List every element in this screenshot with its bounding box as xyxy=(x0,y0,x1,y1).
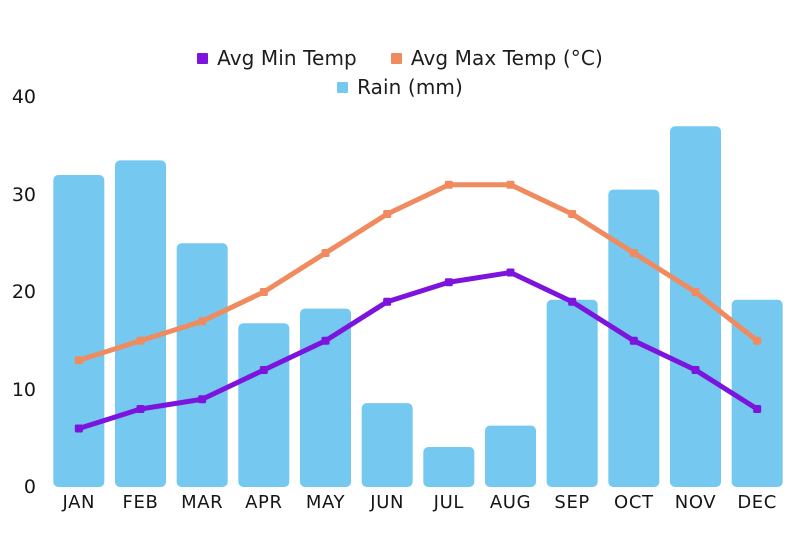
x-tick-label-jul: JUL xyxy=(434,492,464,513)
point-avg-min-temp-jan[interactable] xyxy=(75,425,83,433)
legend-row-primary: Avg Min Temp Avg Max Temp (°C) xyxy=(0,48,800,68)
point-avg-max-temp-apr[interactable] xyxy=(260,288,268,296)
bar-rain-jun[interactable] xyxy=(362,403,413,487)
point-avg-min-temp-may[interactable] xyxy=(322,337,330,345)
bar-rain-may[interactable] xyxy=(300,309,351,487)
x-tick-label-dec: DEC xyxy=(737,492,777,513)
point-avg-max-temp-jul[interactable] xyxy=(445,181,453,189)
legend-row-secondary: Rain (mm) xyxy=(0,77,800,97)
legend-label-avg-min-temp: Avg Min Temp xyxy=(217,48,357,68)
point-avg-max-temp-oct[interactable] xyxy=(630,249,638,257)
point-avg-min-temp-oct[interactable] xyxy=(630,337,638,345)
bar-rain-jan[interactable] xyxy=(53,175,104,487)
point-avg-min-temp-aug[interactable] xyxy=(507,269,515,277)
y-tick-label-40: 40 xyxy=(12,86,36,108)
x-tick-label-aug: AUG xyxy=(490,492,531,513)
y-tick-label-0: 0 xyxy=(24,476,36,498)
x-tick-label-oct: OCT xyxy=(614,492,654,513)
x-tick-label-feb: FEB xyxy=(123,492,159,513)
plot-area xyxy=(48,97,788,487)
bar-series-rain xyxy=(53,126,782,487)
square-marker-icon xyxy=(197,53,208,64)
point-avg-min-temp-jun[interactable] xyxy=(383,298,391,306)
point-avg-max-temp-dec[interactable] xyxy=(753,337,761,345)
point-avg-max-temp-feb[interactable] xyxy=(137,337,145,345)
x-tick-label-mar: MAR xyxy=(181,492,223,513)
bar-rain-feb[interactable] xyxy=(115,160,166,487)
point-avg-max-temp-nov[interactable] xyxy=(692,288,700,296)
legend-label-avg-max-temp: Avg Max Temp (°C) xyxy=(411,48,603,68)
legend-item-avg-max-temp[interactable]: Avg Max Temp (°C) xyxy=(391,48,603,68)
square-marker-icon xyxy=(337,82,348,93)
point-avg-max-temp-jan[interactable] xyxy=(75,356,83,364)
x-tick-label-may: MAY xyxy=(306,492,345,513)
bar-rain-sep[interactable] xyxy=(547,300,598,487)
point-avg-min-temp-mar[interactable] xyxy=(198,395,206,403)
point-avg-max-temp-aug[interactable] xyxy=(507,181,515,189)
chart-legend: Avg Min Temp Avg Max Temp (°C) Rain (mm) xyxy=(0,48,800,97)
legend-item-rain[interactable]: Rain (mm) xyxy=(337,77,463,97)
point-avg-min-temp-dec[interactable] xyxy=(753,405,761,413)
weather-chart: Avg Min Temp Avg Max Temp (°C) Rain (mm)… xyxy=(0,0,800,546)
point-avg-max-temp-may[interactable] xyxy=(322,249,330,257)
y-tick-label-20: 20 xyxy=(12,281,36,303)
legend-label-rain: Rain (mm) xyxy=(357,77,463,97)
square-marker-icon xyxy=(391,53,402,64)
point-avg-max-temp-mar[interactable] xyxy=(198,317,206,325)
point-avg-min-temp-apr[interactable] xyxy=(260,366,268,374)
x-tick-label-jun: JUN xyxy=(370,492,404,513)
y-tick-label-10: 10 xyxy=(12,379,36,401)
y-axis: 010203040 xyxy=(0,97,44,487)
x-tick-label-sep: SEP xyxy=(554,492,589,513)
x-axis: JANFEBMARAPRMAYJUNJULAUGSEPOCTNOVDEC xyxy=(48,492,788,522)
point-avg-min-temp-feb[interactable] xyxy=(137,405,145,413)
point-avg-max-temp-jun[interactable] xyxy=(383,210,391,218)
plot-canvas xyxy=(48,97,788,487)
point-avg-min-temp-nov[interactable] xyxy=(692,366,700,374)
x-tick-label-apr: APR xyxy=(245,492,282,513)
point-avg-min-temp-jul[interactable] xyxy=(445,278,453,286)
bar-rain-aug[interactable] xyxy=(485,426,536,487)
bar-rain-mar[interactable] xyxy=(177,243,228,487)
y-tick-label-30: 30 xyxy=(12,184,36,206)
x-tick-label-nov: NOV xyxy=(675,492,716,513)
bar-rain-jul[interactable] xyxy=(423,447,474,487)
bar-rain-apr[interactable] xyxy=(238,323,289,487)
legend-item-avg-min-temp[interactable]: Avg Min Temp xyxy=(197,48,357,68)
point-avg-min-temp-sep[interactable] xyxy=(568,298,576,306)
point-avg-max-temp-sep[interactable] xyxy=(568,210,576,218)
x-tick-label-jan: JAN xyxy=(63,492,96,513)
